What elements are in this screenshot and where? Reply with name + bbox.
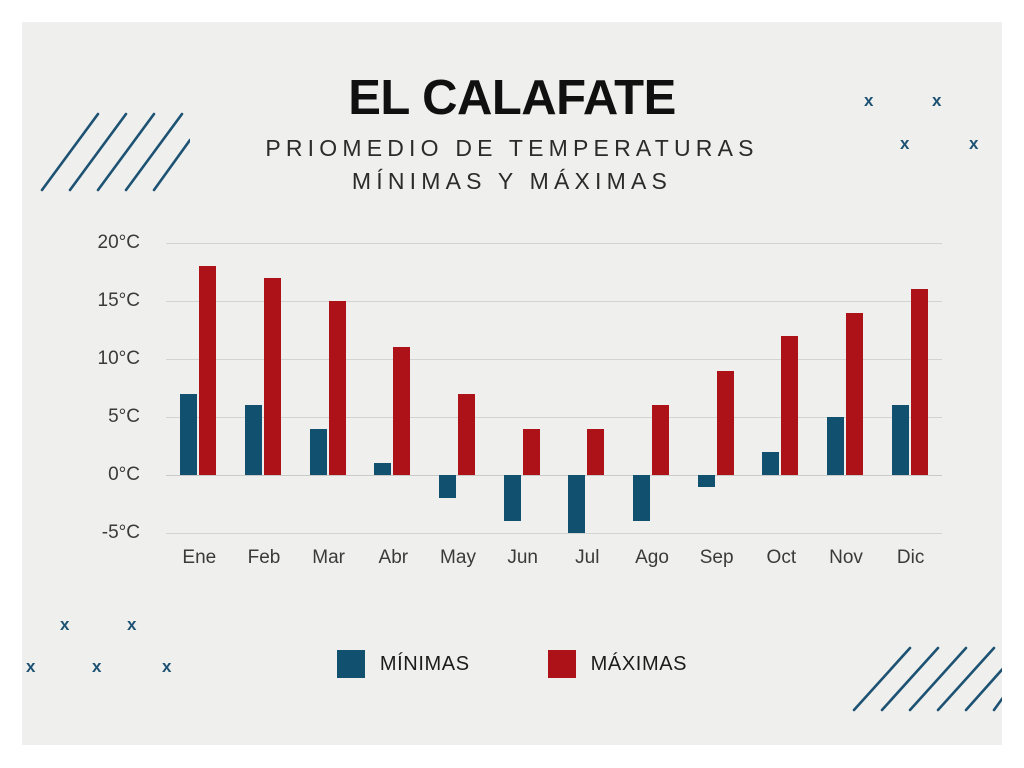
x-axis-tick-label: Mar — [312, 547, 345, 569]
bar-group — [504, 243, 540, 533]
bar-mínimas-mar — [310, 429, 327, 475]
bar-máximas-feb — [264, 278, 281, 475]
bar-group — [633, 243, 669, 533]
gridline — [166, 243, 942, 244]
gridline — [166, 359, 942, 360]
bar-group — [698, 243, 734, 533]
x-axis-tick-label: Dic — [897, 547, 924, 569]
legend-item-minimas: MÍNIMAS — [337, 650, 470, 678]
x-axis-tick-label: Sep — [700, 547, 734, 569]
bar-mínimas-may — [439, 475, 456, 498]
temperature-bar-chart: 20°C15°C10°C5°C0°C-5°CEneFebMarAbrMayJun… — [82, 222, 952, 582]
gridline — [166, 301, 942, 302]
x-axis-tick-label: Ene — [182, 547, 216, 569]
page-title: EL CALAFATE — [22, 70, 1002, 126]
bar-group — [245, 243, 281, 533]
bar-group — [762, 243, 798, 533]
x-axis-tick-label: May — [440, 547, 476, 569]
bar-máximas-nov — [846, 313, 863, 475]
x-axis-tick-label: Ago — [635, 547, 669, 569]
gridline — [166, 417, 942, 418]
bar-mínimas-jun — [504, 475, 521, 521]
y-axis-tick-label: 0°C — [70, 464, 140, 486]
bar-group — [892, 243, 928, 533]
x-axis-tick-label: Feb — [248, 547, 281, 569]
bar-mínimas-nov — [827, 417, 844, 475]
legend-swatch-minimas — [337, 650, 365, 678]
x-axis-tick-label: Nov — [829, 547, 863, 569]
bar-máximas-dic — [911, 289, 928, 475]
legend-label-maximas: MÁXIMAS — [591, 653, 687, 676]
subtitle-line-2: MÍNIMAS Y MÁXIMAS — [22, 168, 1002, 195]
bar-máximas-sep — [717, 371, 734, 475]
bar-máximas-ago — [652, 405, 669, 475]
bar-máximas-may — [458, 394, 475, 475]
bar-mínimas-sep — [698, 475, 715, 487]
y-axis-tick-label: 10°C — [70, 348, 140, 370]
bar-group — [374, 243, 410, 533]
legend-swatch-maximas — [548, 650, 576, 678]
bar-group — [568, 243, 604, 533]
bar-mínimas-feb — [245, 405, 262, 475]
bar-group — [827, 243, 863, 533]
gridline — [166, 475, 942, 476]
subtitle-line-1: PRIOMEDIO DE TEMPERATURAS — [22, 135, 1002, 162]
y-axis-tick-label: -5°C — [70, 522, 140, 544]
bar-mínimas-abr — [374, 463, 391, 475]
chart-plot-area: 20°C15°C10°C5°C0°C-5°CEneFebMarAbrMayJun… — [166, 243, 942, 533]
y-axis-tick-label: 20°C — [70, 232, 140, 254]
x-axis-tick-label: Abr — [379, 547, 409, 569]
x-axis-tick-label: Jul — [575, 547, 599, 569]
bar-mínimas-oct — [762, 452, 779, 475]
bar-máximas-jun — [523, 429, 540, 475]
bar-mínimas-jul — [568, 475, 585, 533]
slide-canvas: x x x x x x x x x EL CALAFATE PRIOMEDIO … — [22, 22, 1002, 745]
bar-mínimas-ago — [633, 475, 650, 521]
x-axis-tick-label: Oct — [767, 547, 797, 569]
bar-máximas-mar — [329, 301, 346, 475]
bar-group — [439, 243, 475, 533]
bar-group — [180, 243, 216, 533]
y-axis-tick-label: 5°C — [70, 406, 140, 428]
slide-header: EL CALAFATE PRIOMEDIO DE TEMPERATURAS MÍ… — [22, 70, 1002, 195]
chart-legend: MÍNIMAS MÁXIMAS — [22, 650, 1002, 678]
x-mark-icon: x — [60, 616, 69, 633]
bar-máximas-ene — [199, 266, 216, 475]
bar-máximas-oct — [781, 336, 798, 475]
x-axis-tick-label: Jun — [507, 547, 538, 569]
legend-item-maximas: MÁXIMAS — [548, 650, 687, 678]
bar-máximas-jul — [587, 429, 604, 475]
bar-mínimas-dic — [892, 405, 909, 475]
legend-label-minimas: MÍNIMAS — [380, 653, 470, 676]
x-mark-icon: x — [127, 616, 136, 633]
bar-máximas-abr — [393, 347, 410, 475]
gridline — [166, 533, 942, 534]
y-axis-tick-label: 15°C — [70, 290, 140, 312]
bar-mínimas-ene — [180, 394, 197, 475]
bar-group — [310, 243, 346, 533]
